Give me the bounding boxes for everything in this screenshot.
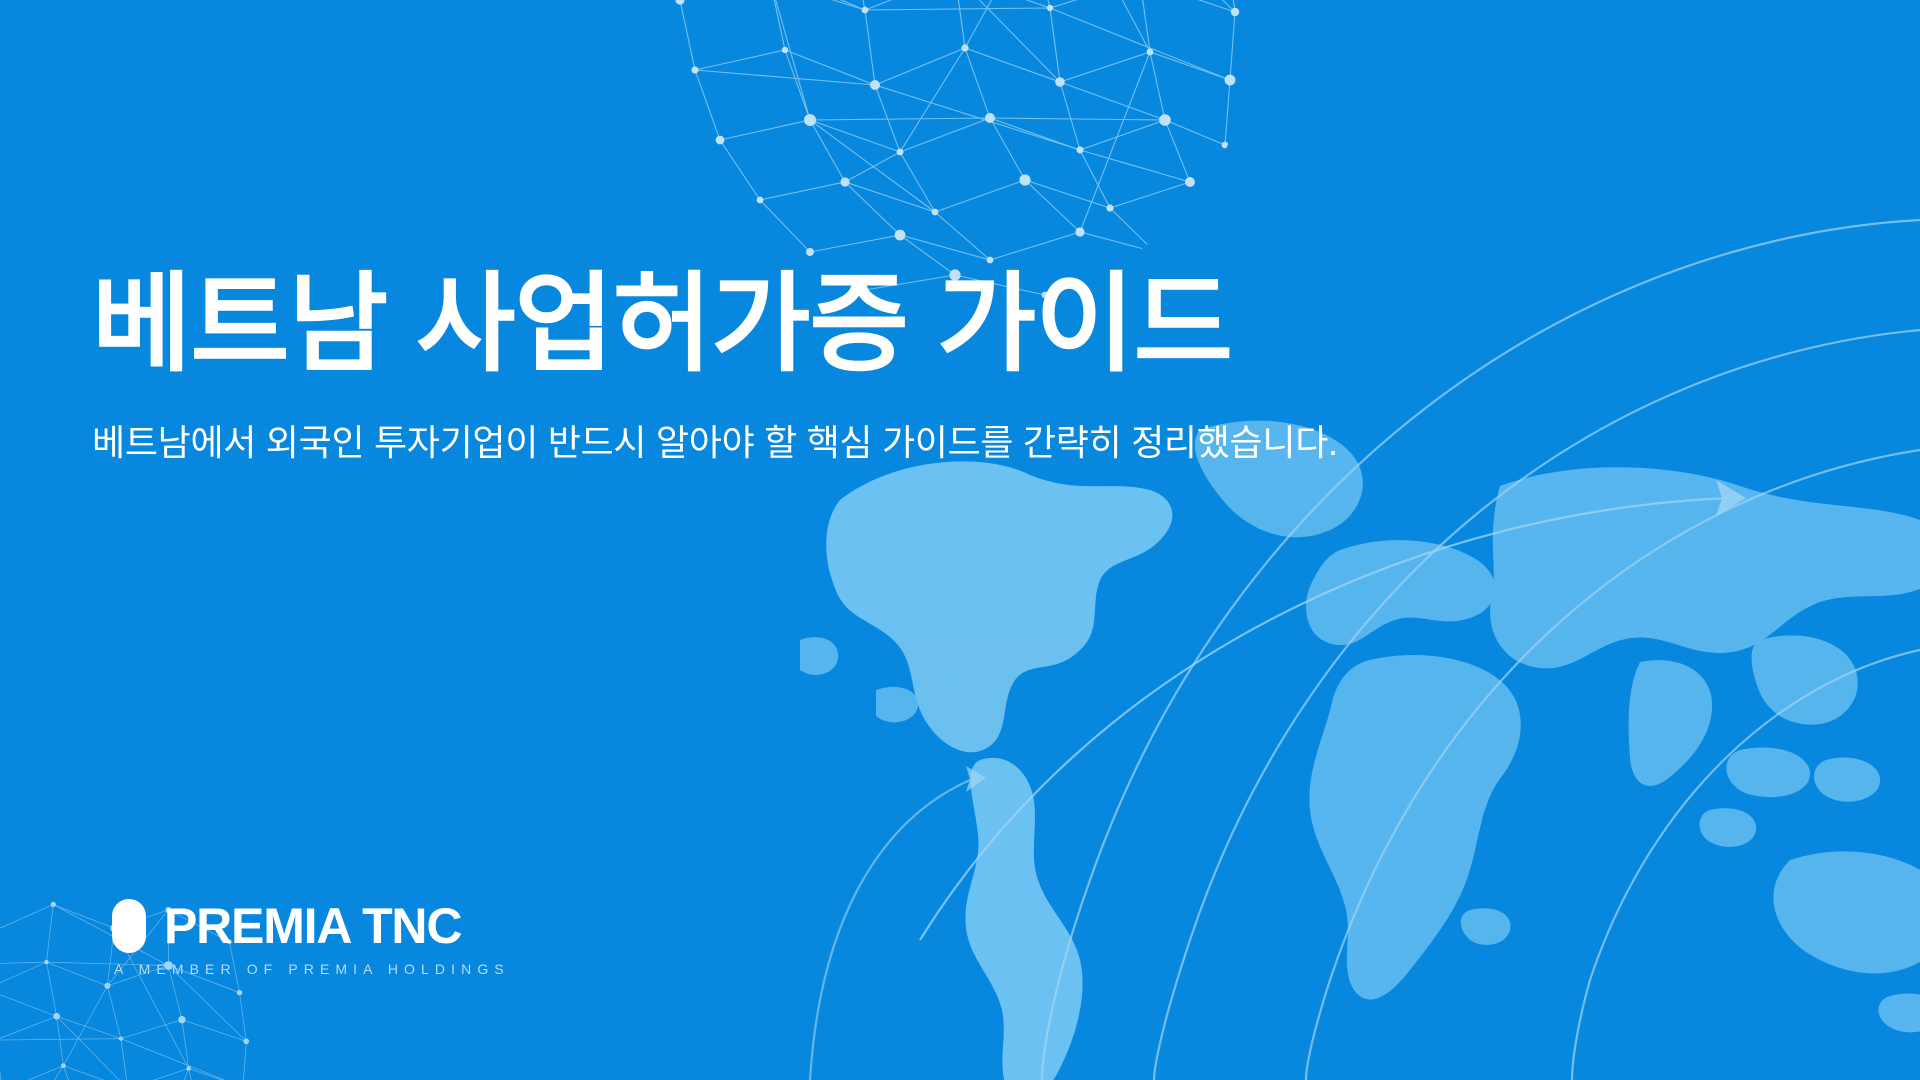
brand-logo: PREMIA TNC A MEMBER OF PREMIA HOLDINGS <box>112 899 510 976</box>
logo-wordmark: PREMIA TNC <box>164 901 461 951</box>
title-slide: 베트남 사업허가증 가이드 베트남에서 외국인 투자기업이 반드시 알아야 할 … <box>0 0 1920 1080</box>
arrow-head-icon <box>1716 480 1746 516</box>
logo-tagline: A MEMBER OF PREMIA HOLDINGS <box>114 962 510 976</box>
capsule-mark-icon <box>112 899 146 953</box>
logo-row: PREMIA TNC <box>112 899 461 953</box>
page-subtitle: 베트남에서 외국인 투자기업이 반드시 알아야 할 핵심 가이드를 간략히 정리… <box>92 419 1692 468</box>
world-map-icon <box>780 390 1920 1080</box>
page-title: 베트남 사업허가증 가이드 <box>92 262 1692 385</box>
hero-content: 베트남 사업허가증 가이드 베트남에서 외국인 투자기업이 반드시 알아야 할 … <box>92 262 1692 468</box>
